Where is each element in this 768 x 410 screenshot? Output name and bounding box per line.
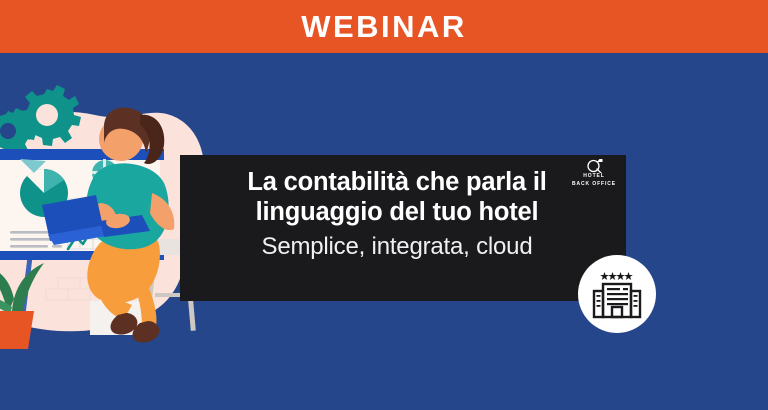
star-rating: [600, 272, 633, 280]
webinar-ribbon: WEBINAR: [0, 0, 768, 53]
headline-block: La contabilità che parla il linguaggio d…: [232, 168, 562, 262]
webinar-label: WEBINAR: [301, 11, 467, 42]
webinar-banner: WEBINAR: [0, 0, 768, 410]
headline-line-2: linguaggio del tuo hotel: [232, 198, 562, 228]
headline-line-1: La contabilità che parla il: [232, 168, 562, 198]
hotel-building-icon: [590, 267, 644, 321]
hotel-back-office-mark-icon: [586, 158, 603, 173]
brand-name-line-2: BACK OFFICE: [569, 181, 619, 189]
hotel-rating-badge: [578, 255, 656, 333]
brand-name-line-1: HOTEL: [569, 173, 619, 181]
brand-logo: HOTEL BACK OFFICE: [569, 158, 619, 188]
headline-subtitle: Semplice, integrata, cloud: [232, 231, 562, 262]
